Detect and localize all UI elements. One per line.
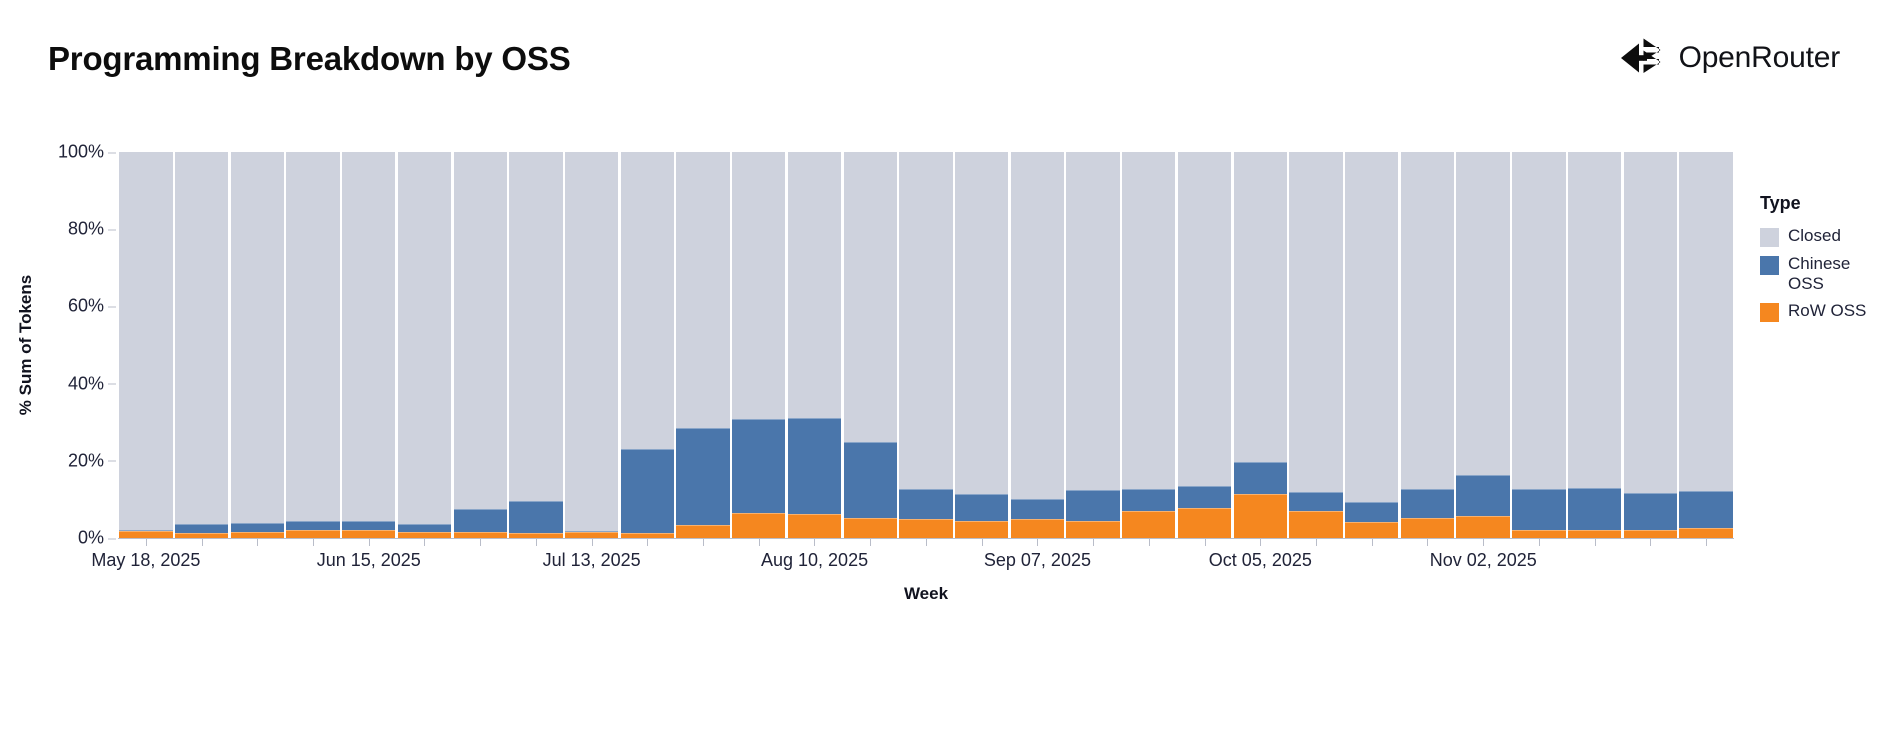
bar-segment[interactable] — [899, 489, 952, 519]
x-axis-tick — [842, 538, 898, 548]
bar-segment[interactable] — [1345, 502, 1398, 522]
bar-segment[interactable] — [1679, 528, 1732, 538]
bar-segment[interactable] — [1679, 491, 1732, 528]
bar-column[interactable] — [899, 152, 952, 538]
x-axis-tick — [1121, 538, 1177, 548]
x-axis-tick-label: Aug 10, 2025 — [761, 550, 868, 571]
bar-segment[interactable] — [509, 152, 562, 501]
bar-column[interactable] — [565, 152, 618, 538]
bar-column[interactable] — [175, 152, 228, 538]
x-axis-tick-label: May 18, 2025 — [91, 550, 200, 571]
bar-segment[interactable] — [342, 152, 395, 521]
bar-segment[interactable] — [1289, 492, 1342, 511]
bar-segment[interactable] — [454, 509, 507, 532]
y-axis-tick-label: 100% — [58, 142, 104, 163]
x-axis-tick — [1344, 538, 1400, 548]
x-axis-tick — [954, 538, 1010, 548]
bar-segment[interactable] — [1679, 152, 1732, 491]
bar-segment[interactable] — [1568, 152, 1621, 488]
bar-segment[interactable] — [286, 152, 339, 521]
bar-segment[interactable] — [1234, 494, 1287, 538]
bar-column[interactable] — [1624, 152, 1677, 538]
bar-column[interactable] — [231, 152, 284, 538]
bar-column[interactable] — [342, 152, 395, 538]
bar-segment[interactable] — [1122, 511, 1175, 538]
bar-segment[interactable] — [676, 525, 729, 538]
bar-segment[interactable] — [398, 152, 451, 524]
bar-segment[interactable] — [509, 501, 562, 533]
x-axis-tick — [1065, 538, 1121, 548]
bar-column[interactable] — [1289, 152, 1342, 538]
bar-segment[interactable] — [286, 530, 339, 538]
bar-segment[interactable] — [1401, 152, 1454, 489]
bar-segment[interactable] — [844, 152, 897, 442]
bar-column[interactable] — [1568, 152, 1621, 538]
bar-segment[interactable] — [1011, 152, 1064, 499]
bar-segment[interactable] — [1234, 152, 1287, 462]
bar-column[interactable] — [1456, 152, 1509, 538]
bar-segment[interactable] — [788, 418, 841, 515]
bar-segment[interactable] — [621, 152, 674, 449]
bar-segment[interactable] — [1289, 511, 1342, 538]
bar-segment[interactable] — [1456, 475, 1509, 516]
x-axis-tick — [564, 538, 620, 548]
x-axis-title: Week — [118, 584, 1734, 604]
bar-segment[interactable] — [1178, 152, 1231, 486]
bar-segment[interactable] — [732, 152, 785, 419]
x-axis-tick — [397, 538, 453, 548]
y-axis-tick-label: 80% — [68, 219, 104, 240]
x-axis-tick — [1400, 538, 1456, 548]
bar-segment[interactable] — [1624, 493, 1677, 530]
bar-segment[interactable] — [788, 514, 841, 538]
bar-segment[interactable] — [119, 531, 172, 538]
chart-area: % Sum of Tokens 100%80%60%40%20%0% May 1… — [0, 0, 1880, 734]
bar-segment[interactable] — [1122, 152, 1175, 489]
bar-segment[interactable] — [899, 519, 952, 538]
x-axis-tick-label: Sep 07, 2025 — [984, 550, 1091, 571]
x-axis-tick — [1678, 538, 1734, 548]
legend-swatch-icon — [1760, 256, 1779, 275]
legend-swatch-icon — [1760, 228, 1779, 247]
chart-page: Programming Breakdown by OSS OpenRouter … — [0, 0, 1880, 734]
bar-segment[interactable] — [732, 419, 785, 513]
bar-column[interactable] — [1234, 152, 1287, 538]
x-axis-tick — [452, 538, 508, 548]
bar-column[interactable] — [1066, 152, 1119, 538]
legend-item-label: Closed — [1788, 226, 1841, 246]
bar-segment[interactable] — [1289, 152, 1342, 492]
x-axis-tick — [229, 538, 285, 548]
legend-title: Type — [1760, 193, 1880, 214]
bar-column[interactable] — [621, 152, 674, 538]
bar-column[interactable] — [732, 152, 785, 538]
bar-segment[interactable] — [1512, 489, 1565, 529]
legend: Type ClosedChinese OSSRoW OSS — [1760, 193, 1880, 329]
y-axis-tick-label: 0% — [78, 528, 104, 549]
bar-segment[interactable] — [1456, 152, 1509, 475]
bar-segment[interactable] — [1011, 499, 1064, 519]
x-axis-tick — [675, 538, 731, 548]
legend-item-label: Chinese OSS — [1788, 254, 1880, 294]
bar-segment[interactable] — [1456, 516, 1509, 538]
bar-column[interactable] — [509, 152, 562, 538]
bar-segment[interactable] — [286, 521, 339, 529]
bar-segment[interactable] — [1178, 486, 1231, 508]
bar-column[interactable] — [1122, 152, 1175, 538]
bar-segment[interactable] — [676, 152, 729, 428]
legend-item[interactable]: Chinese OSS — [1760, 254, 1880, 294]
y-axis-tick-label: 20% — [68, 450, 104, 471]
x-axis-tick — [1010, 538, 1066, 548]
bar-segment[interactable] — [1345, 152, 1398, 502]
bar-segment[interactable] — [175, 524, 228, 532]
x-axis-tick — [898, 538, 954, 548]
x-axis-tick — [1288, 538, 1344, 548]
x-axis-tick — [174, 538, 230, 548]
bar-column[interactable] — [1011, 152, 1064, 538]
bar-segment[interactable] — [621, 449, 674, 533]
x-axis-labels: May 18, 2025Jun 15, 2025Jul 13, 2025Aug … — [118, 550, 1734, 578]
bar-segment[interactable] — [1345, 522, 1398, 538]
y-axis-tick-label: 40% — [68, 373, 104, 394]
bar-segment[interactable] — [231, 523, 284, 532]
bar-column[interactable] — [398, 152, 451, 538]
bar-segment[interactable] — [732, 513, 785, 538]
bar-column[interactable] — [1178, 152, 1231, 538]
x-axis-tick — [508, 538, 564, 548]
bar-column[interactable] — [676, 152, 729, 538]
bar-segment[interactable] — [844, 518, 897, 538]
x-axis-tick — [1177, 538, 1233, 548]
bar-segment[interactable] — [955, 494, 1008, 521]
bar-column[interactable] — [955, 152, 1008, 538]
bar-segment[interactable] — [1066, 152, 1119, 490]
legend-item[interactable]: Closed — [1760, 226, 1880, 247]
bar-segment[interactable] — [1568, 488, 1621, 530]
bar-segment[interactable] — [676, 428, 729, 525]
bar-segment[interactable] — [175, 152, 228, 524]
bar-column[interactable] — [1512, 152, 1565, 538]
bar-segment[interactable] — [1401, 518, 1454, 538]
bar-segment[interactable] — [1624, 530, 1677, 538]
y-axis: 100%80%60%40%20%0% — [0, 152, 118, 538]
x-axis-tick — [341, 538, 397, 548]
bar-segment[interactable] — [955, 152, 1008, 494]
bar-segment[interactable] — [565, 152, 618, 531]
bar-segment[interactable] — [119, 152, 172, 530]
bar-column[interactable] — [1401, 152, 1454, 538]
legend-item[interactable]: RoW OSS — [1760, 301, 1880, 322]
bar-segment[interactable] — [1401, 489, 1454, 518]
x-axis-ticks — [118, 538, 1734, 548]
bar-series-container — [118, 152, 1734, 538]
x-axis-tick — [1511, 538, 1567, 548]
plot-area — [118, 152, 1734, 538]
bar-segment[interactable] — [342, 521, 395, 531]
bar-segment[interactable] — [454, 152, 507, 509]
bar-segment[interactable] — [1568, 530, 1621, 538]
x-axis-tick — [118, 538, 174, 548]
x-axis-tick-label: Jul 13, 2025 — [543, 550, 641, 571]
bar-segment[interactable] — [1178, 508, 1231, 538]
bar-segment[interactable] — [398, 524, 451, 532]
x-axis-tick — [619, 538, 675, 548]
y-axis-tick-label: 60% — [68, 296, 104, 317]
bar-segment[interactable] — [955, 521, 1008, 538]
x-axis-tick — [1567, 538, 1623, 548]
x-axis-tick — [787, 538, 843, 548]
bar-segment[interactable] — [899, 152, 952, 489]
x-axis-tick — [285, 538, 341, 548]
bar-column[interactable] — [119, 152, 172, 538]
bar-column[interactable] — [454, 152, 507, 538]
x-axis-tick-label: Nov 02, 2025 — [1430, 550, 1537, 571]
bar-segment[interactable] — [1512, 152, 1565, 489]
x-axis-tick-label: Oct 05, 2025 — [1209, 550, 1312, 571]
bar-column[interactable] — [788, 152, 841, 538]
x-axis-tick — [731, 538, 787, 548]
x-axis-tick — [1455, 538, 1511, 548]
x-axis-tick — [1232, 538, 1288, 548]
bar-segment[interactable] — [1066, 490, 1119, 520]
legend-item-label: RoW OSS — [1788, 301, 1866, 321]
legend-swatch-icon — [1760, 303, 1779, 322]
bar-column[interactable] — [286, 152, 339, 538]
bar-segment[interactable] — [1122, 489, 1175, 511]
bar-column[interactable] — [844, 152, 897, 538]
bar-segment[interactable] — [1624, 152, 1677, 493]
bar-segment[interactable] — [1512, 530, 1565, 538]
bar-segment[interactable] — [231, 152, 284, 523]
x-axis-tick — [1622, 538, 1678, 548]
bar-segment[interactable] — [788, 152, 841, 418]
bar-segment[interactable] — [342, 530, 395, 538]
bar-segment[interactable] — [844, 442, 897, 518]
bar-segment[interactable] — [1066, 521, 1119, 538]
bar-column[interactable] — [1679, 152, 1732, 538]
bar-segment[interactable] — [1011, 519, 1064, 538]
bar-column[interactable] — [1345, 152, 1398, 538]
x-axis-tick-label: Jun 15, 2025 — [317, 550, 421, 571]
bar-segment[interactable] — [1234, 462, 1287, 494]
legend-items: ClosedChinese OSSRoW OSS — [1760, 226, 1880, 322]
